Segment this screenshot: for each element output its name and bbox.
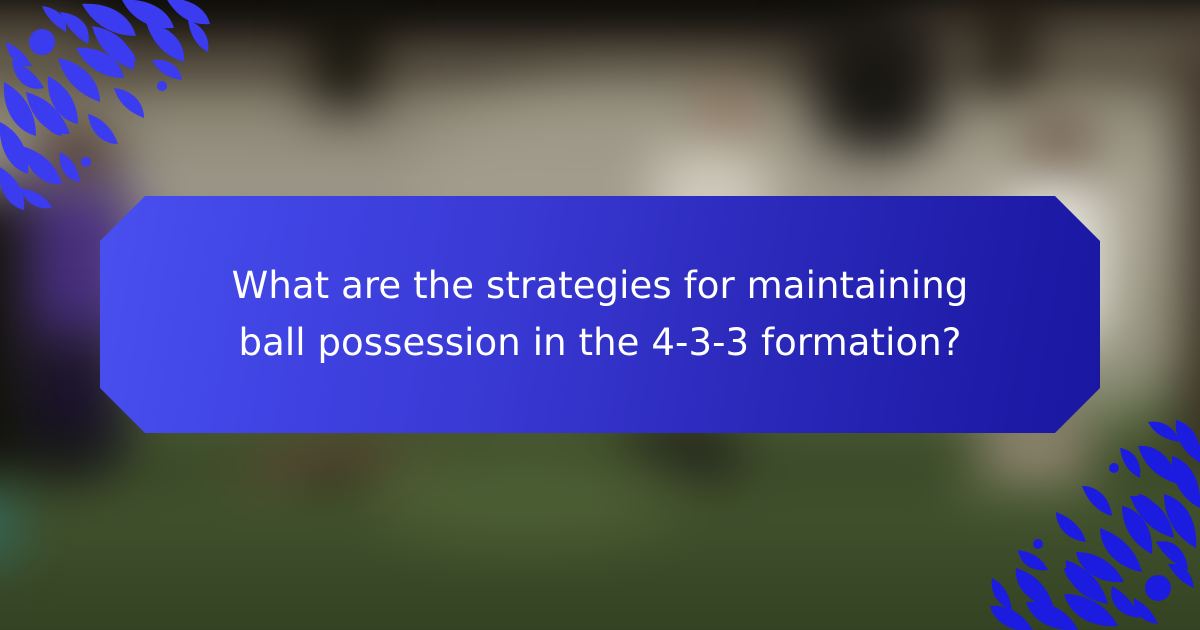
- background-structure-top: [91, 0, 897, 45]
- background-post-far-right: [1183, 45, 1200, 490]
- background-post-left: [314, 0, 378, 108]
- banner-title-text: What are the strategies for maintaining …: [160, 258, 1040, 370]
- share-card: What are the strategies for maintaining …: [0, 0, 1200, 630]
- background-post-right: [982, 0, 1033, 98]
- title-banner: What are the strategies for maintaining …: [100, 196, 1100, 433]
- background-grass-highlight: [367, 447, 685, 542]
- background-dark-panel-right: [812, 13, 939, 151]
- background-dark-mass-left: [0, 193, 28, 511]
- background-player-center-head: [695, 85, 756, 153]
- background-player-right-head: [1024, 108, 1094, 189]
